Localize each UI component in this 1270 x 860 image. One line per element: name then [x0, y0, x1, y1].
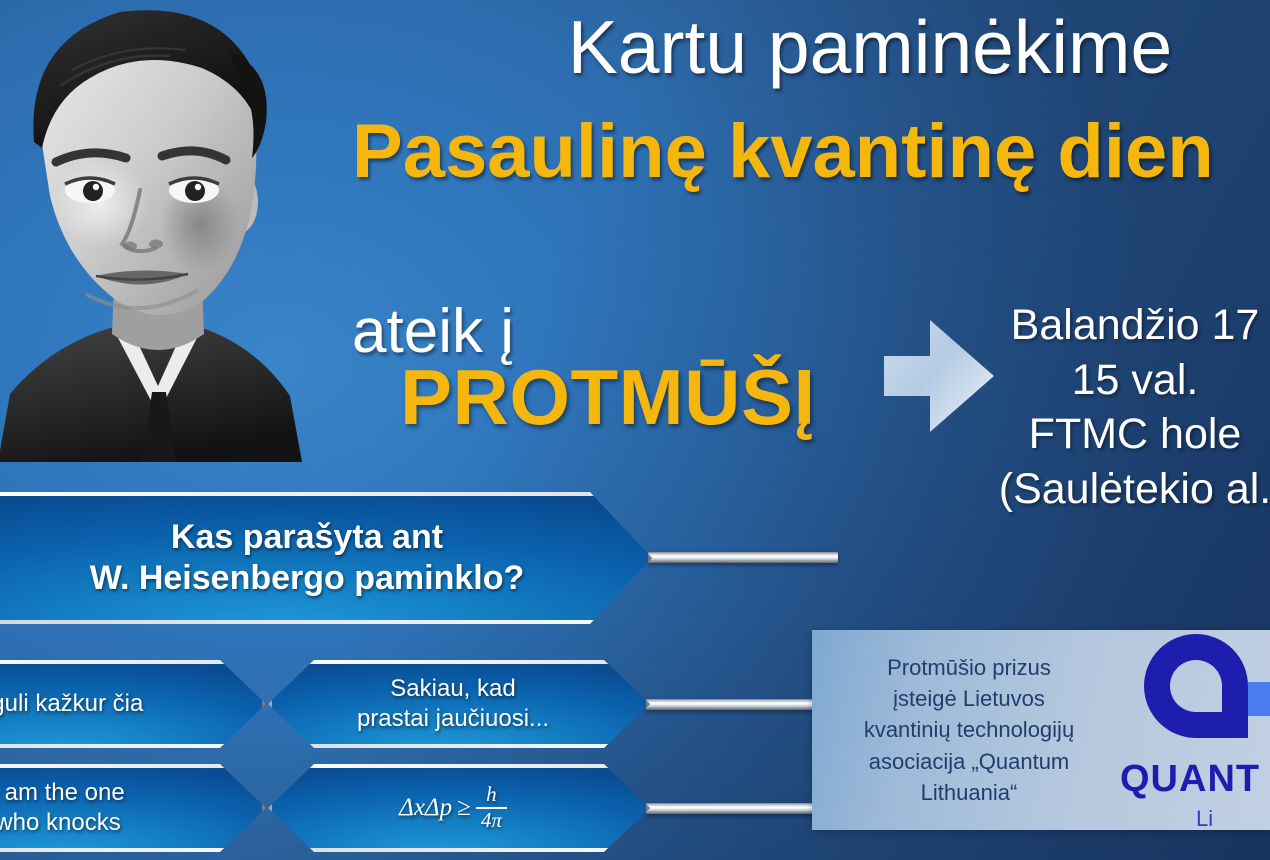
uncertainty-formula: ΔxΔp ≥ h 4π [399, 784, 507, 832]
sponsor-wordmark-subtitle: Li [1196, 806, 1213, 832]
quiz-answer-option-1[interactable]: s guli kažkur čia [0, 660, 266, 748]
quiz-answer-option-3[interactable]: I am the one who knocks [0, 764, 266, 852]
formula-denominator: 4π [476, 807, 507, 832]
invitation-event-name: PROTMŪŠĮ [400, 352, 816, 443]
quiz-answer-3-line2: who knocks [0, 808, 125, 838]
poster-canvas: Kartu paminėkime Pasaulinę kvantinę dien… [0, 0, 1270, 860]
quiz-question-line1: Kas parašyta ant [90, 517, 525, 558]
event-date: Balandžio 17 [975, 298, 1270, 353]
quiz-answer-option-2[interactable]: Sakiau, kad prastai jaučiuosi... [268, 660, 650, 748]
heisenberg-portrait [0, 0, 342, 462]
event-time: 15 val. [975, 353, 1270, 408]
quiz-answer-2-line1: Sakiau, kad [357, 674, 549, 704]
sponsor-line-1: Protmūšio prizus [828, 652, 1110, 683]
quiz-question-line2: W. Heisenbergo paminklo? [90, 558, 525, 599]
quiz-answer-1-text: s guli kažkur čia [0, 689, 143, 719]
quantum-q-logo-icon [1132, 630, 1270, 742]
quiz-answer-3-line1: I am the one [0, 778, 125, 808]
connector-rod-answer-2 [646, 699, 828, 710]
connector-rod-question [648, 552, 838, 563]
sponsor-wordmark: QUANT [1120, 758, 1260, 801]
sponsor-line-4: asociacija „Quantum [828, 746, 1110, 777]
event-details: Balandžio 17 15 val. FTMC hole (Saulėtek… [975, 298, 1270, 516]
sponsor-line-2: įsteigė Lietuvos [828, 683, 1110, 714]
event-venue: FTMC hole [975, 407, 1270, 462]
event-address: (Saulėtekio al. [975, 462, 1270, 517]
formula-fraction: h 4π [476, 784, 507, 832]
sponsor-description: Protmūšio prizus įsteigė Lietuvos kvanti… [812, 652, 1110, 808]
quiz-question-box[interactable]: Kas parašyta ant W. Heisenbergo paminklo… [0, 492, 652, 624]
sponsor-line-5: Lithuania“ [828, 777, 1110, 808]
sponsor-panel: Protmūšio prizus įsteigė Lietuvos kvanti… [812, 630, 1270, 830]
formula-left-side: ΔxΔp [399, 792, 452, 824]
formula-relation: ≥ [457, 792, 471, 824]
formula-numerator: h [481, 784, 502, 807]
sponsor-line-3: kvantinių technologijų [828, 714, 1110, 745]
connector-rod-answer-4 [646, 803, 828, 814]
page-title-line2: Pasaulinę kvantinę dien [352, 112, 1270, 191]
sponsor-logo: QUANT Li [1110, 630, 1270, 830]
page-title-line1: Kartu paminėkime [450, 8, 1270, 86]
quiz-answer-option-4[interactable]: ΔxΔp ≥ h 4π [268, 764, 650, 852]
quiz-answer-2-line2: prastai jaučiuosi... [357, 704, 549, 734]
